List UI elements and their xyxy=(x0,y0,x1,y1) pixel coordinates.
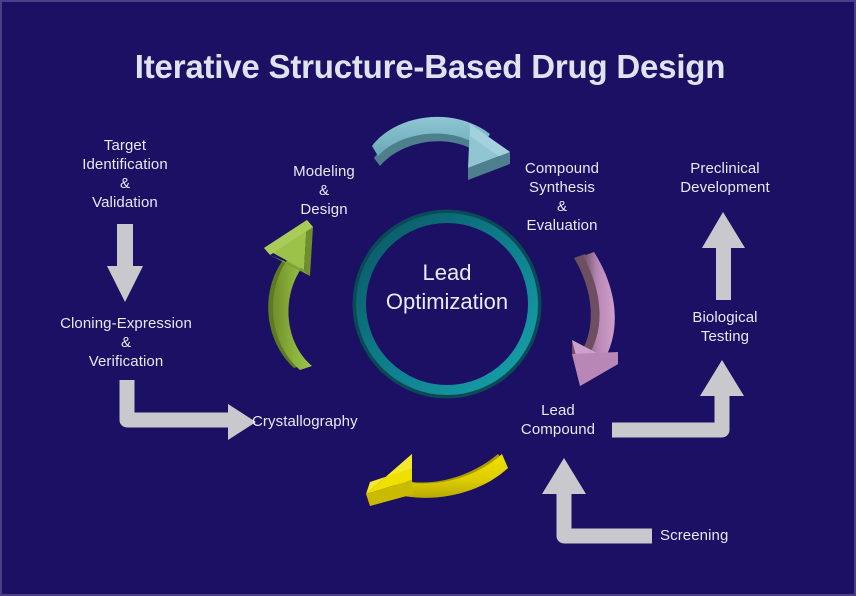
arrow-target-to-cloning xyxy=(107,224,143,302)
node-label-target-identification: Target Identification & Validation xyxy=(50,136,200,212)
arrow-lead-to-crystallography xyxy=(366,454,508,506)
diagram-canvas: Iterative Structure-Based Drug Design xyxy=(0,0,856,596)
node-label-modeling-design: Modeling & Design xyxy=(264,162,384,219)
node-label-cloning-expression: Cloning-Expression & Verification xyxy=(40,314,212,371)
arrow-modeling-to-compound xyxy=(372,117,510,180)
arrow-cloning-to-crystallography xyxy=(127,380,256,440)
lead-optimization-label: Lead Optimization xyxy=(342,258,552,316)
arrow-compound-to-lead xyxy=(572,252,618,386)
arrow-crystallography-to-modeling xyxy=(264,220,313,370)
node-label-compound-synthesis: Compound Synthesis & Evaluation xyxy=(502,159,622,235)
arrow-leadcompound-to-biological xyxy=(612,360,744,430)
arrow-biological-to-preclinical xyxy=(702,212,745,300)
node-label-screening: Screening xyxy=(660,526,770,545)
node-label-preclinical-development: Preclinical Development xyxy=(660,159,790,197)
node-label-crystallography: Crystallography xyxy=(252,412,386,431)
node-label-biological-testing: Biological Testing xyxy=(667,308,783,346)
arrow-screening-to-leadcompound xyxy=(542,458,652,536)
node-label-lead-compound: Lead Compound xyxy=(502,401,614,439)
